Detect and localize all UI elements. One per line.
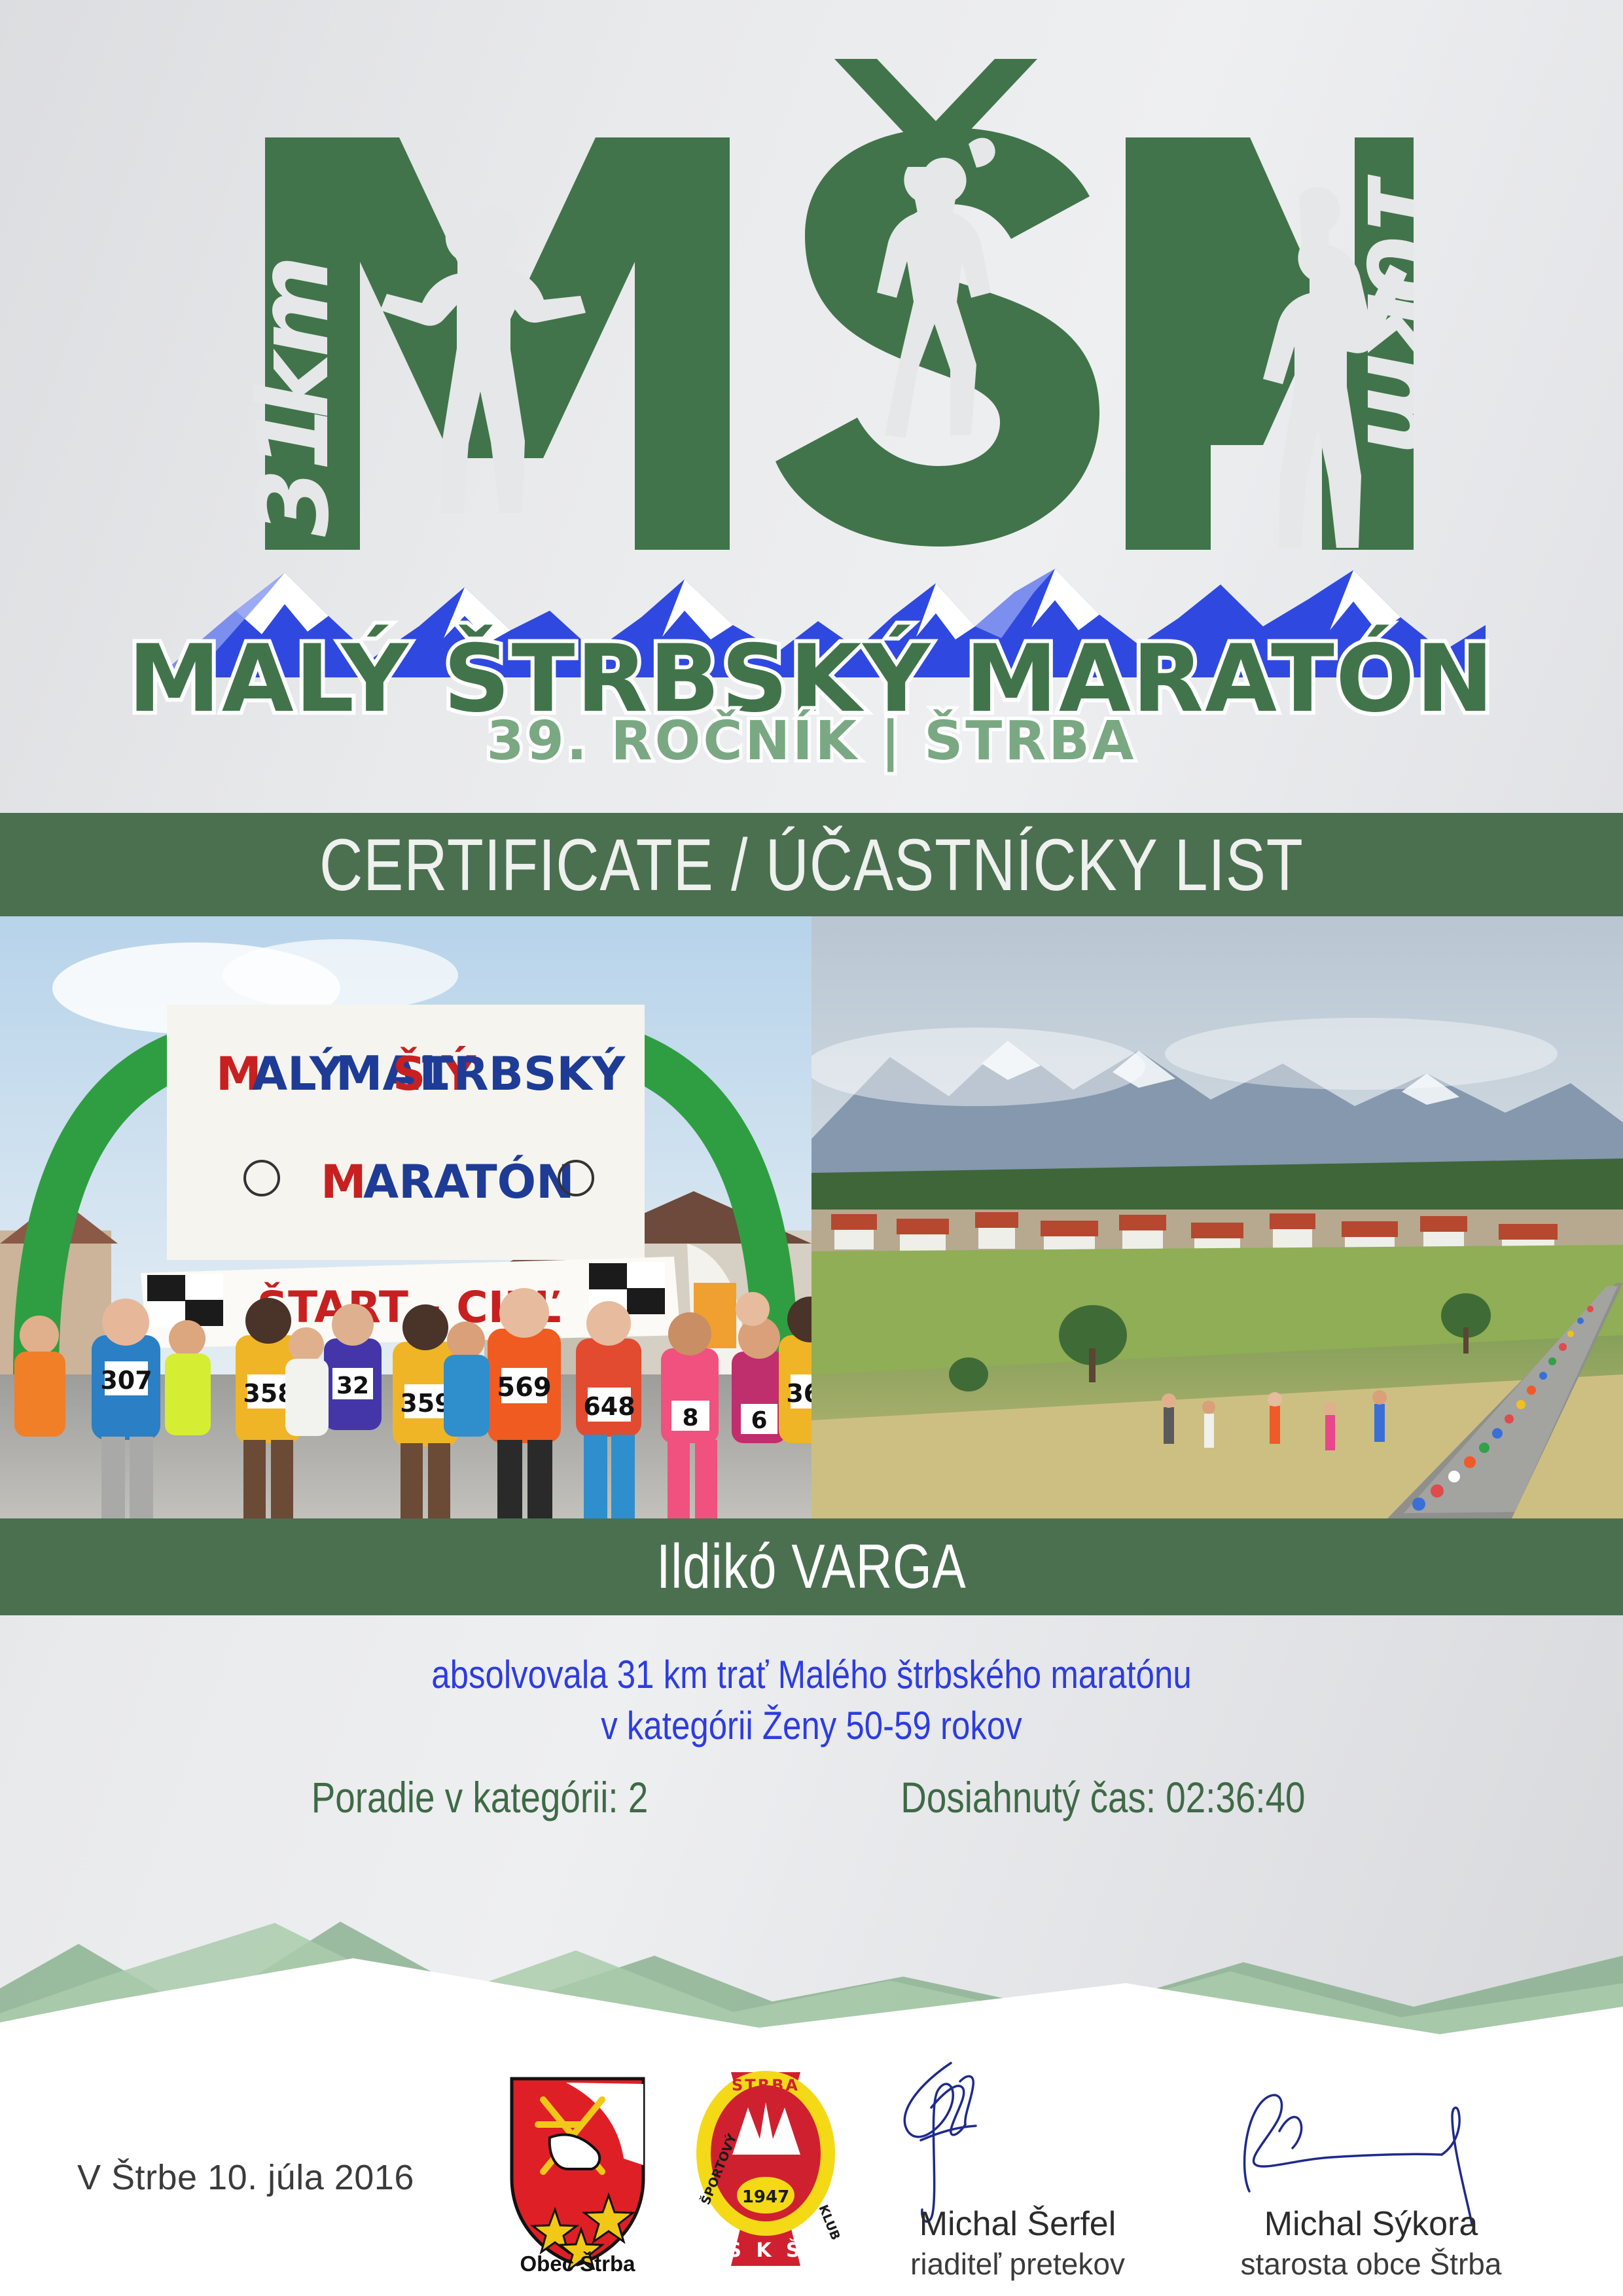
svg-text:360: 360	[786, 1379, 811, 1408]
sports-club-logo-icon: 1947 ŠTRBA Š K Š ŠPORTOVÝ KLUB	[690, 2068, 841, 2271]
svg-text:31: 31	[237, 405, 351, 537]
svg-text:Š K Š: Š K Š	[727, 2238, 804, 2262]
certificate-page: 31 km 10 km	[0, 0, 1623, 2296]
handwritten-signature-icon	[847, 2062, 1188, 2225]
achievement-line-1: absolvovala 31 km trať Malého štrbského …	[122, 1649, 1501, 1700]
signatory-role: starosta obce Štrba	[1201, 2246, 1541, 2282]
svg-text:M: M	[321, 1155, 366, 1209]
municipality-crest-icon	[504, 2073, 651, 2270]
certificate-heading-band: CERTIFICATE / ÚČASTNÍCKY LIST	[0, 813, 1623, 916]
finish-time: Dosiahnutý čas: 02:36:40	[901, 1772, 1305, 1822]
start-line-photo: MALÝ M ALÝ Š TRBSKÝ M ARATÓN	[0, 916, 811, 1518]
svg-text:569: 569	[497, 1372, 552, 1403]
msm-wordmark-logo: 31 km 10 km	[216, 39, 1414, 563]
participant-name-band: Ildikó VARGA	[0, 1518, 1623, 1615]
svg-text:KLUB: KLUB	[815, 2203, 841, 2242]
photo-strip: MALÝ M ALÝ Š TRBSKÝ M ARATÓN	[0, 916, 1623, 1518]
svg-text:8: 8	[682, 1405, 698, 1431]
svg-text:Š: Š	[393, 1047, 425, 1101]
municipality-label: Obec Štrba	[504, 2251, 651, 2276]
svg-text:ŠTRBA: ŠTRBA	[732, 2075, 800, 2094]
svg-text:307: 307	[100, 1366, 152, 1395]
handwritten-signature-icon	[1201, 2062, 1541, 2225]
results-row: Poradie v kategórii: 2 Dosiahnutý čas: 0…	[0, 1772, 1623, 1822]
event-subtitle: 39. ROČNÍK | ŠTRBA	[0, 710, 1623, 772]
achievement-text: absolvovala 31 km trať Malého štrbského …	[0, 1649, 1623, 1751]
svg-text:ARATÓN: ARATÓN	[363, 1155, 575, 1209]
svg-text:km: km	[237, 259, 351, 419]
signatory-role: riaditeľ pretekov	[847, 2246, 1188, 2282]
svg-text:ALÝ: ALÝ	[252, 1047, 344, 1101]
logo-area: 31 km 10 km	[0, 0, 1623, 785]
svg-text:6: 6	[751, 1407, 767, 1434]
svg-text:648: 648	[583, 1392, 635, 1421]
rank-in-category: Poradie v kategórii: 2	[311, 1772, 648, 1822]
issue-date: V Štrbe 10. júla 2016	[77, 2157, 414, 2198]
footer: V Štrbe 10. júla 2016 Obec Štrba	[0, 2049, 1623, 2296]
signatory-name: Michal Šerfel	[847, 2204, 1188, 2244]
certificate-heading: CERTIFICATE / ÚČASTNÍCKY LIST	[319, 823, 1304, 907]
course-landscape-photo	[811, 916, 1623, 1518]
svg-text:km: km	[1344, 291, 1414, 451]
svg-text:32: 32	[336, 1372, 369, 1399]
achievement-zone: absolvovala 31 km trať Malého štrbského …	[0, 1615, 1623, 1890]
svg-text:10: 10	[1344, 170, 1414, 302]
svg-text:1947: 1947	[742, 2187, 789, 2207]
svg-text:TRBSKÝ: TRBSKÝ	[422, 1047, 626, 1101]
participant-name: Ildikó VARGA	[656, 1531, 966, 1603]
achievement-line-2: v kategórii Ženy 50-59 rokov	[122, 1700, 1501, 1751]
signatory-name: Michal Sýkora	[1201, 2204, 1541, 2244]
